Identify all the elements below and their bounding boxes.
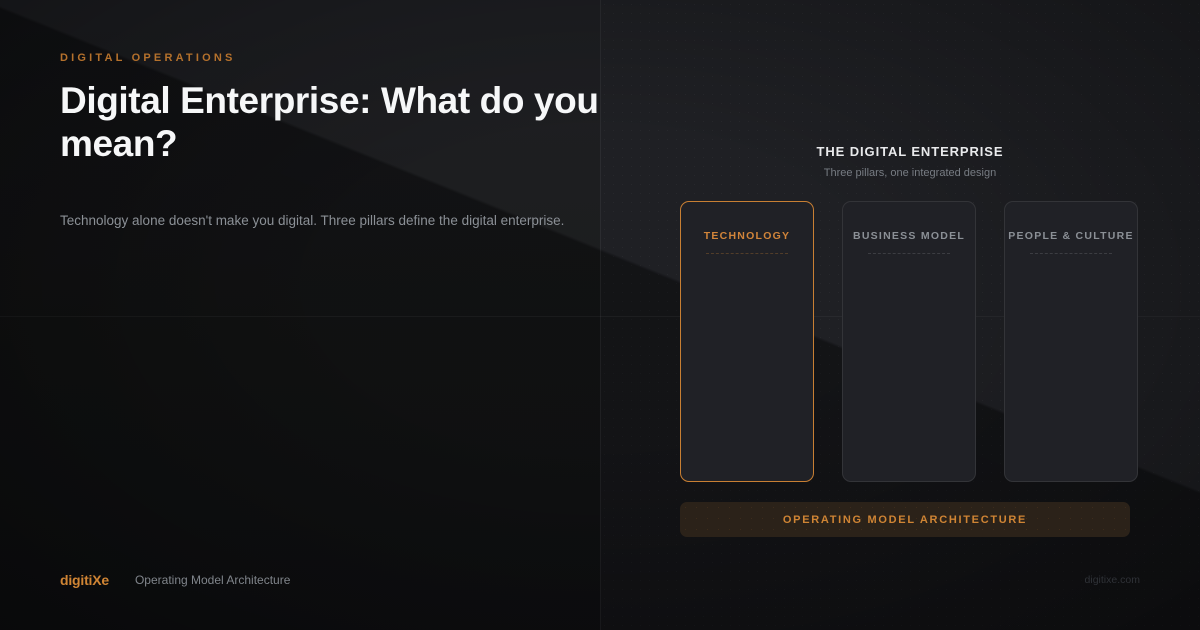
pillar-card-label: TECHNOLOGY	[681, 230, 813, 242]
diagram-title: THE DIGITAL ENTERPRISE	[660, 144, 1160, 159]
footer-website: digitixe.com	[1085, 574, 1140, 586]
slide-root: DIGITAL OPERATIONS Digital Enterprise: W…	[0, 0, 1200, 630]
eyebrow-label: DIGITAL OPERATIONS	[60, 52, 620, 64]
pillar-card-divider	[706, 253, 788, 254]
pillar-card-people-culture[interactable]: PEOPLE & CULTURE	[1004, 201, 1138, 482]
pillar-card-business-model[interactable]: BUSINESS MODEL	[842, 201, 976, 482]
operating-model-bar-label: OPERATING MODEL ARCHITECTURE	[783, 514, 1027, 526]
page-title: Digital Enterprise: What do you mean?	[60, 79, 600, 166]
pillar-card-label: PEOPLE & CULTURE	[1005, 230, 1137, 242]
diagram-subtitle: Three pillars, one integrated design	[660, 167, 1160, 179]
pillar-card-divider	[1030, 253, 1112, 254]
pillar-card-label: BUSINESS MODEL	[843, 230, 975, 242]
pillar-card-group: TECHNOLOGY BUSINESS MODEL PEOPLE & CULTU…	[660, 201, 1160, 482]
brand-logo: digitiXe	[60, 572, 109, 588]
pillar-card-technology[interactable]: TECHNOLOGY	[680, 201, 814, 482]
page-subtitle: Technology alone doesn't make you digita…	[60, 210, 620, 232]
diagram-panel: THE DIGITAL ENTERPRISE Three pillars, on…	[660, 144, 1160, 537]
footer-tagline: Operating Model Architecture	[135, 573, 290, 587]
operating-model-bar: OPERATING MODEL ARCHITECTURE	[680, 502, 1130, 537]
pillar-card-divider	[868, 253, 950, 254]
left-text-panel: DIGITAL OPERATIONS Digital Enterprise: W…	[60, 52, 620, 231]
footer: digitiXe Operating Model Architecture	[60, 572, 290, 588]
